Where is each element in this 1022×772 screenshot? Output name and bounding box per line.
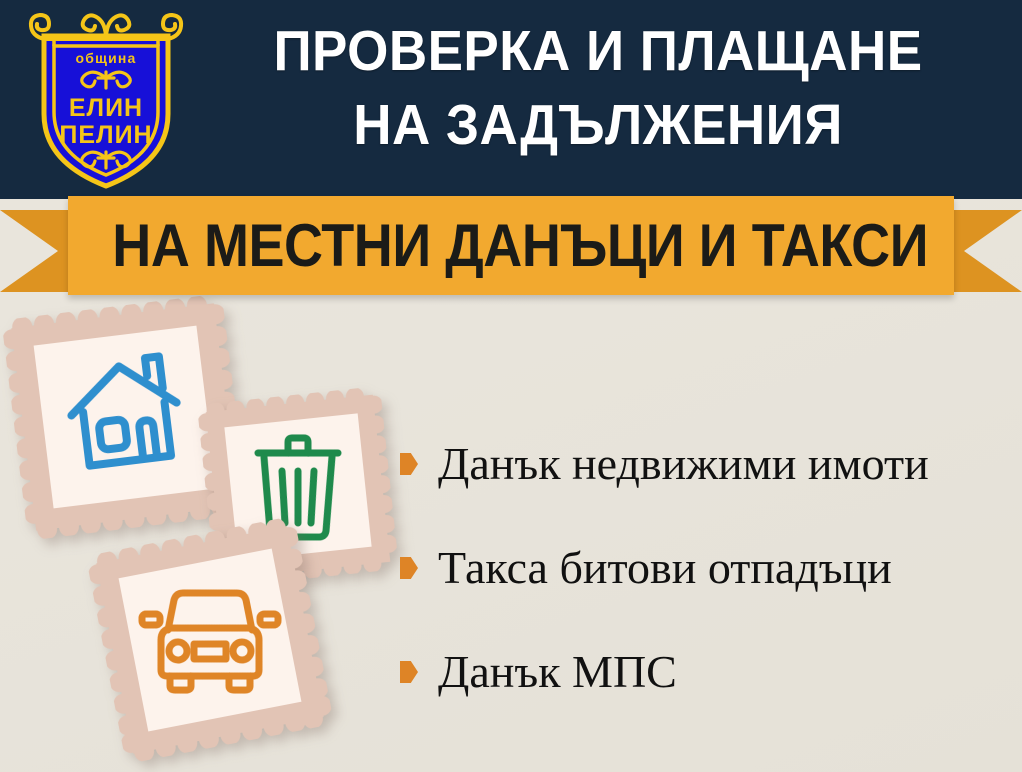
ribbon-label: НА МЕСТНИ ДАНЪЦИ И ТАКСИ [112, 196, 909, 295]
list-item-label: Данък МПС [438, 648, 677, 696]
page-title-line-2: НА ЗАДЪЛЖЕНИЯ [215, 88, 981, 162]
arrow-right-marker-icon [400, 453, 418, 475]
page-title: ПРОВЕРКА И ПЛАЩАНЕ НА ЗАДЪЛЖЕНИЯ [215, 14, 981, 162]
tax-type-list: Данък недвижими имоти Такса битови отпад… [400, 412, 1012, 724]
arrow-right-marker-icon [400, 557, 418, 579]
list-item-label: Такса битови отпадъци [438, 544, 892, 592]
ribbon-banner: НА МЕСТНИ ДАНЪЦИ И ТАКСИ [0, 196, 1022, 308]
crest-text-pelin: ПЕЛИН [59, 121, 152, 149]
stamp-card-vehicle [86, 516, 335, 765]
list-item[interactable]: Данък недвижими имоти [400, 412, 1012, 516]
list-item[interactable]: Такса битови отпадъци [400, 516, 1012, 620]
municipality-crest-logo: община ЕЛИН ПЕЛИН [22, 6, 190, 192]
stamp-paper [119, 549, 302, 732]
stamp-paper [34, 326, 217, 509]
arrow-right-marker-icon [400, 661, 418, 683]
page-title-line-1: ПРОВЕРКА И ПЛАЩАНЕ [215, 14, 981, 88]
crest-text-elin: ЕЛИН [69, 94, 143, 122]
list-item-label: Данък недвижими имоти [438, 440, 929, 488]
crest-text-obshtina: община [75, 50, 136, 66]
list-item[interactable]: Данък МПС [400, 620, 1012, 724]
poster-canvas: НА МЕСТНИ ДАНЪЦИ И ТАКСИ ПРОВЕРКА И ПЛАЩ… [0, 0, 1022, 772]
